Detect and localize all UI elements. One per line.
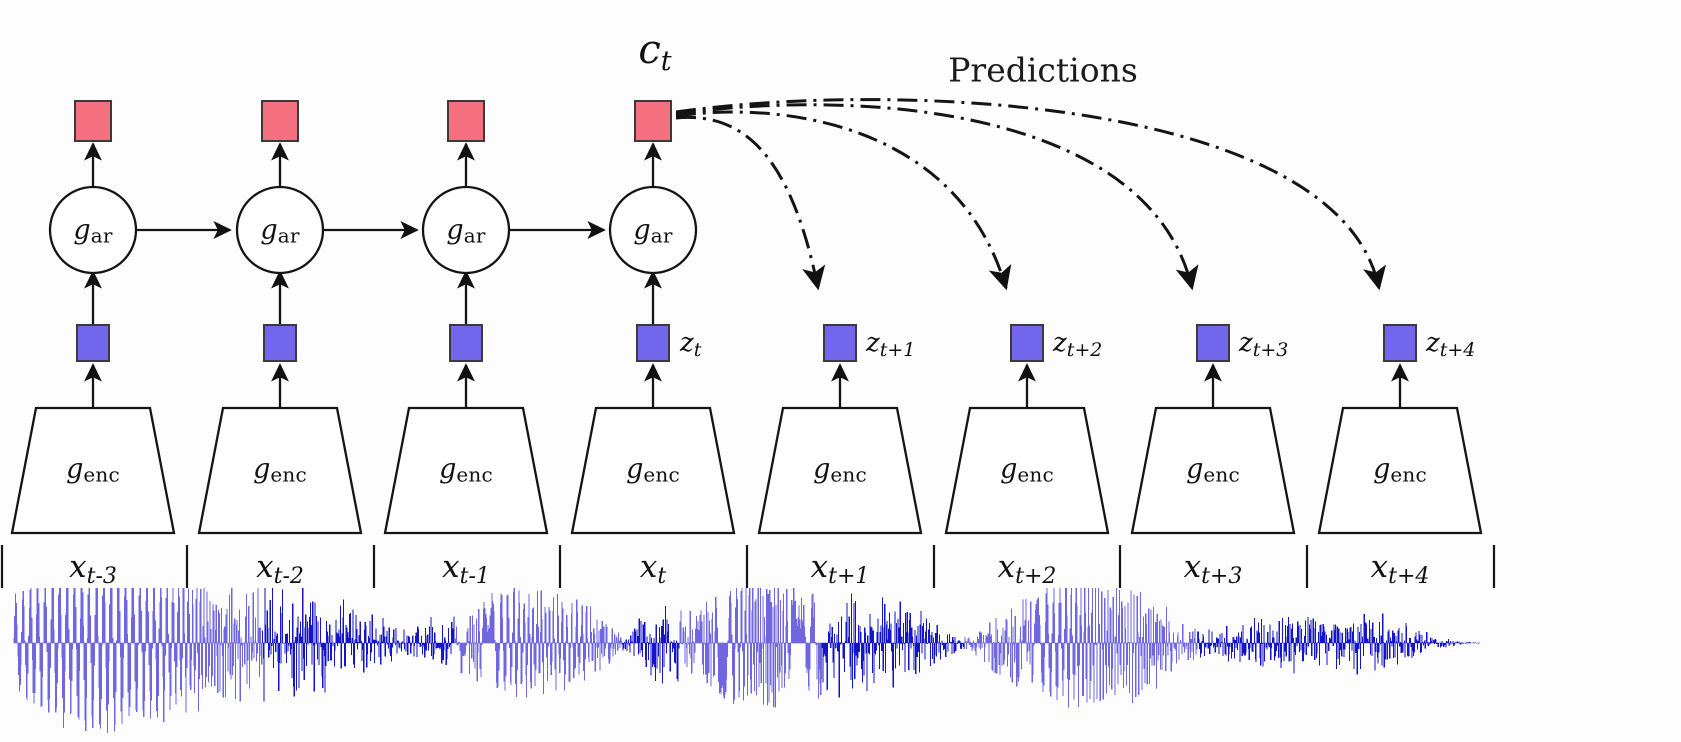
prediction-curves <box>676 100 1379 288</box>
predictions-label: Predictions <box>948 51 1138 90</box>
genc-label-3: genc <box>439 453 493 486</box>
gar-label-2: gar <box>260 214 299 247</box>
gar-label-3: gar <box>446 214 485 247</box>
gar-label-4: gar <box>633 214 672 247</box>
input-label-8: xt+4 <box>1371 549 1430 589</box>
genc-label-5: genc <box>813 453 867 486</box>
latent-square-zt2 <box>1010 324 1044 362</box>
latent-square-zt1 <box>823 324 857 362</box>
gar-to-context-arrows <box>93 144 653 187</box>
input-label-2: xt-2 <box>256 549 304 589</box>
window-separators <box>2 545 1494 588</box>
context-square-3 <box>447 100 485 142</box>
latent-label-zt3: zt+3 <box>1239 328 1288 361</box>
latent-square-zt4 <box>1383 324 1417 362</box>
latent-label-zt: zt <box>680 328 701 361</box>
context-square-1 <box>74 100 112 142</box>
latent-square-zt <box>636 324 670 362</box>
latent-square-zt3 <box>1196 324 1230 362</box>
latent-label-zt1: zt+1 <box>866 328 915 361</box>
cpc-architecture-figure: ct Predictions gar gar gar gar genc genc… <box>0 0 1681 742</box>
latent-label-zt2: zt+2 <box>1053 328 1102 361</box>
context-square-2 <box>261 100 299 142</box>
genc-label-4: genc <box>626 453 680 486</box>
input-label-3: xt-1 <box>442 549 490 589</box>
input-label-5: xt+1 <box>811 549 870 589</box>
latent-square-3 <box>449 324 483 362</box>
context-square-ct <box>634 100 672 142</box>
input-label-1: xt-3 <box>69 549 117 589</box>
input-label-7: xt+3 <box>1184 549 1243 589</box>
latent-label-zt4: zt+4 <box>1426 328 1475 361</box>
latent-square-2 <box>263 324 297 362</box>
latent-to-gar-arrows <box>93 272 653 324</box>
genc-label-6: genc <box>1000 453 1054 486</box>
input-label-6: xt+2 <box>998 549 1057 589</box>
genc-label-1: genc <box>66 453 120 486</box>
gar-label-1: gar <box>73 214 112 247</box>
genc-label-8: genc <box>1373 453 1427 486</box>
genc-label-2: genc <box>253 453 307 486</box>
diagram-strokes <box>0 0 1681 742</box>
context-vector-label: ct <box>638 27 671 77</box>
genc-label-7: genc <box>1186 453 1240 486</box>
encoder-to-latent-arrows <box>93 365 1400 408</box>
encoder-shapes <box>12 408 1481 533</box>
latent-square-1 <box>76 324 110 362</box>
input-label-4: xt <box>640 549 666 589</box>
